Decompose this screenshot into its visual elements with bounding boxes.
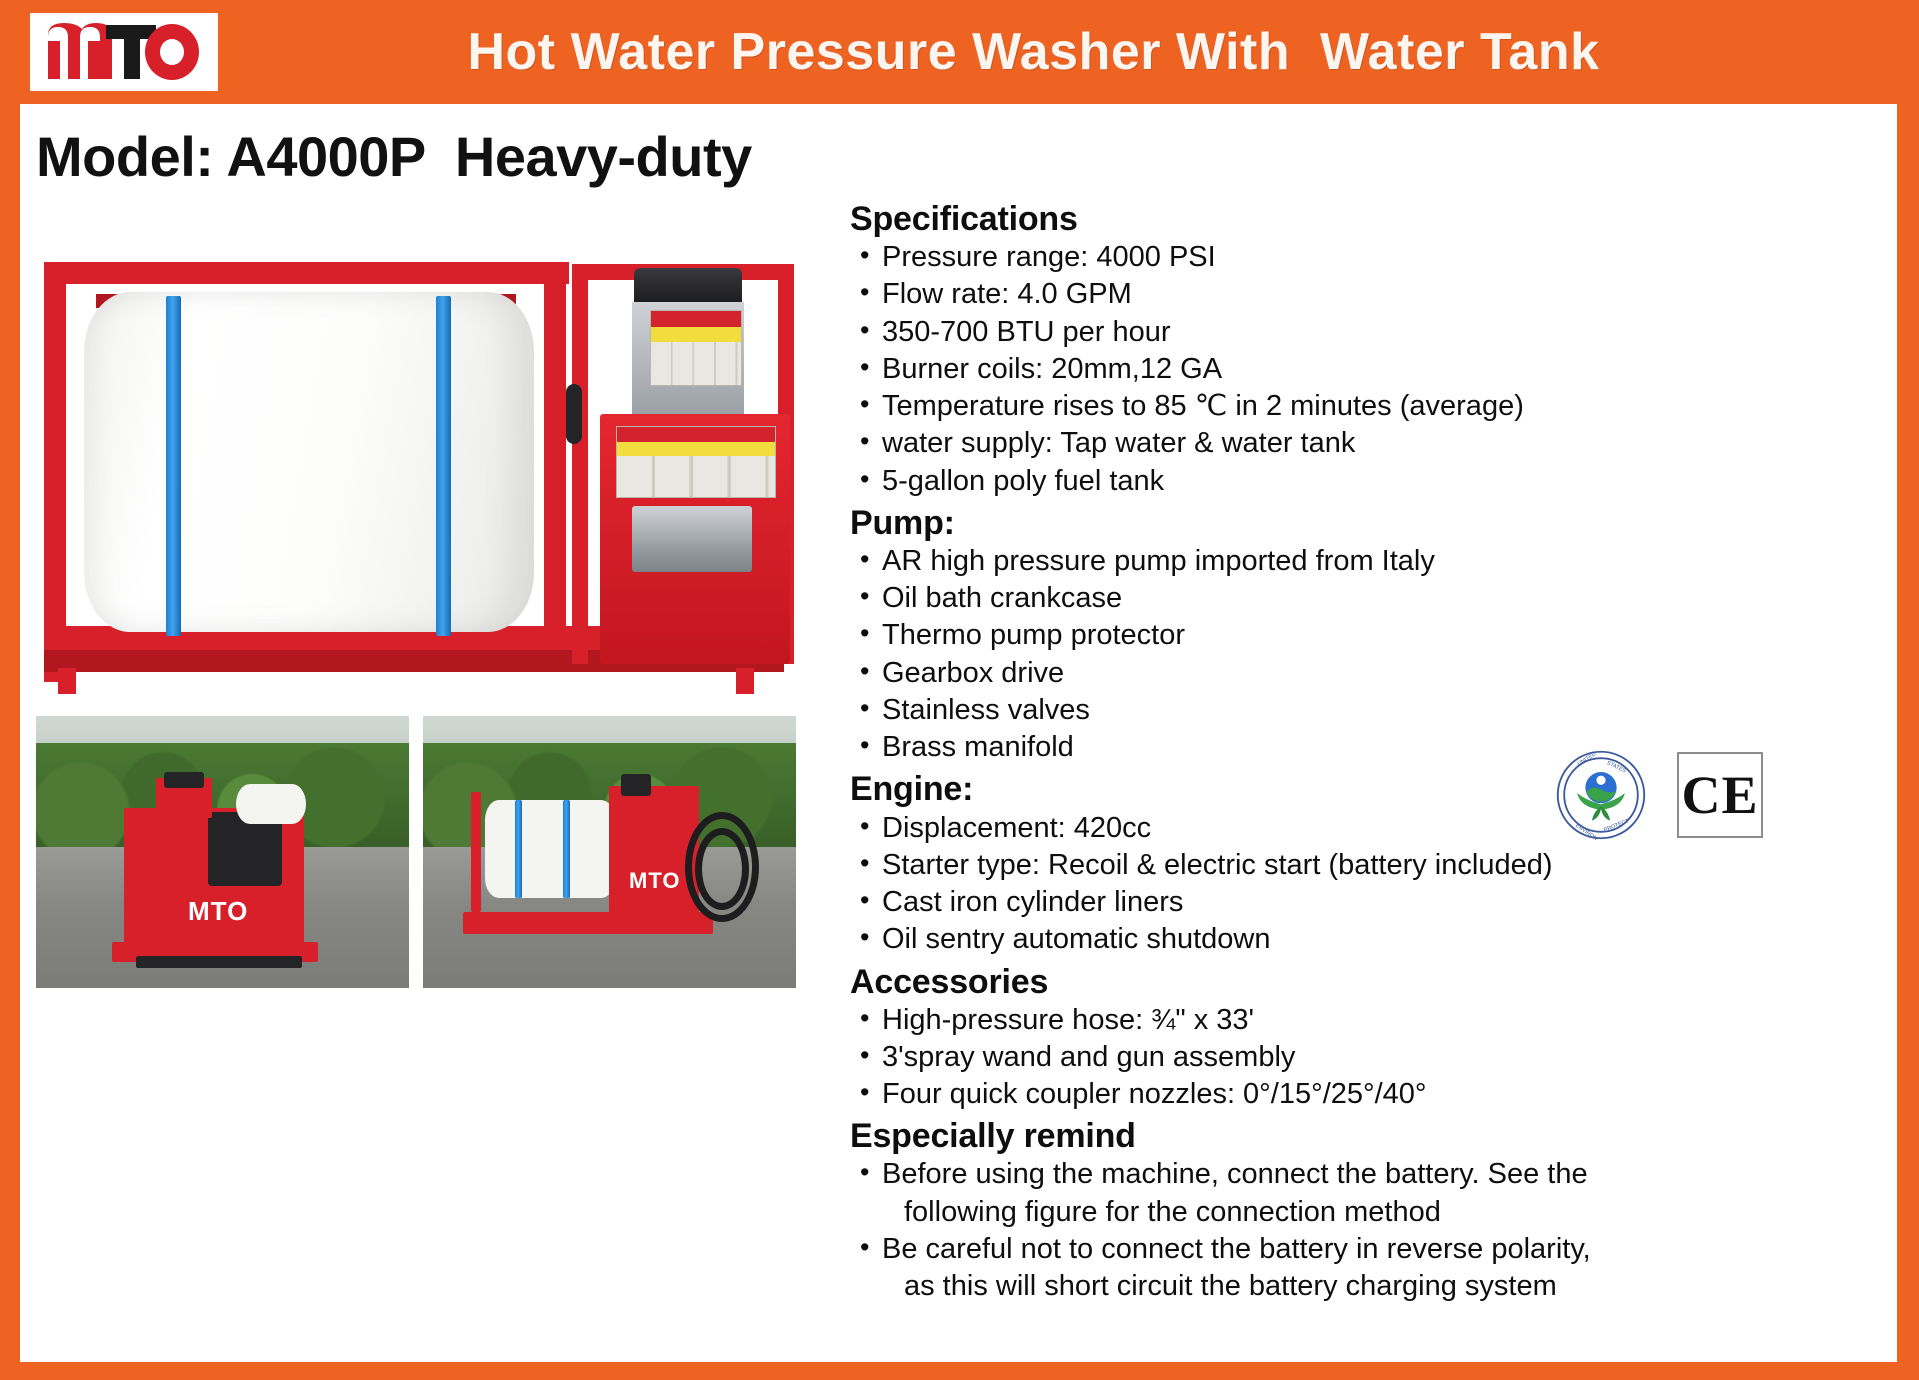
frame-foot-left — [58, 668, 76, 694]
thumbnail-row: MTO MTO — [36, 716, 806, 988]
header-bar: Hot Water Pressure Washer With Water Tan… — [0, 0, 1919, 104]
list-item: Cast iron cylinder liners — [856, 884, 1880, 921]
tank-strap-b — [563, 800, 570, 898]
unit-base — [463, 912, 713, 934]
ce-mark-label: CE — [1681, 768, 1758, 822]
list-item-continuation: as this will short circuit the battery c… — [856, 1268, 1880, 1305]
list-item: Stainless valves — [856, 692, 1880, 729]
certification-badges: UNITED STATES ENVIRON PROTECT CE — [1555, 749, 1763, 841]
tank-edge — [236, 784, 306, 824]
unit-skid — [136, 956, 302, 968]
list-item: Flow rate: 4.0 GPM — [856, 276, 1880, 313]
ce-mark-icon: CE — [1677, 752, 1763, 838]
tank-strap-right — [436, 296, 451, 636]
product-image-column: MTO MTO — [36, 244, 806, 988]
list-item: AR high pressure pump imported from Ital… — [856, 543, 1880, 580]
pump-hose-fitting — [566, 384, 582, 444]
section-heading-specifications: Specifications — [850, 200, 1880, 239]
frame-post-left — [44, 262, 66, 682]
epa-seal-icon: UNITED STATES ENVIRON PROTECT — [1555, 749, 1647, 841]
spec-label-plate — [616, 426, 776, 498]
pump-list: AR high pressure pump imported from Ital… — [856, 543, 1880, 767]
list-item: Oil bath crankcase — [856, 580, 1880, 617]
burner-cap — [634, 268, 742, 306]
list-item: Oil sentry automatic shutdown — [856, 921, 1880, 958]
unit-brand-label: MTO — [188, 896, 248, 927]
content-sheet: Model: A4000P Heavy-duty — [20, 104, 1897, 1362]
stainless-panel — [632, 506, 752, 572]
list-item: Before using the machine, connect the ba… — [856, 1156, 1880, 1193]
list-item: High-pressure hose: ¾" x 33' — [856, 1002, 1880, 1039]
list-item: 350-700 BTU per hour — [856, 314, 1880, 351]
especially-remind-list: Before using the machine, connect the ba… — [856, 1156, 1880, 1305]
list-item: Burner coils: 20mm,12 GA — [856, 351, 1880, 388]
tank-strap-left — [166, 296, 181, 636]
caution-label-upper — [650, 310, 742, 386]
thumbnail-angle-view[interactable]: MTO — [423, 716, 796, 988]
list-item: Gearbox drive — [856, 655, 1880, 692]
list-item: 5-gallon poly fuel tank — [856, 463, 1880, 500]
frame-post — [471, 792, 481, 912]
unit-brand-label: MTO — [629, 868, 680, 894]
frame-foot-right — [736, 668, 754, 694]
hero-product-photo — [36, 244, 796, 694]
unit-frame-left — [572, 264, 588, 664]
mto-logo-icon — [44, 21, 204, 83]
burner-cap — [621, 774, 651, 796]
page-title: Hot Water Pressure Washer With Water Tan… — [218, 22, 1919, 82]
section-heading-especially-remind: Especially remind — [850, 1117, 1880, 1156]
mto-logo — [30, 13, 218, 91]
tank-strap-a — [515, 800, 522, 898]
list-item: Four quick coupler nozzles: 0°/15°/25°/4… — [856, 1076, 1880, 1113]
poly-water-tank — [84, 292, 534, 632]
coiled-hose-inner — [695, 828, 749, 910]
list-item: Be careful not to connect the battery in… — [856, 1231, 1880, 1268]
product-spec-sheet: Hot Water Pressure Washer With Water Tan… — [0, 0, 1919, 1380]
burner-cap — [164, 772, 204, 788]
specifications-list: Pressure range: 4000 PSI Flow rate: 4.0 … — [856, 239, 1880, 500]
section-heading-accessories: Accessories — [850, 963, 1880, 1002]
model-title: Model: A4000P Heavy-duty — [36, 124, 752, 189]
list-item: water supply: Tap water & water tank — [856, 425, 1880, 462]
list-item: Thermo pump protector — [856, 617, 1880, 654]
section-heading-pump: Pump: — [850, 504, 1880, 543]
list-item-continuation: following figure for the connection meth… — [856, 1194, 1880, 1231]
list-item: 3'spray wand and gun assembly — [856, 1039, 1880, 1076]
thumbnail-front-view[interactable]: MTO — [36, 716, 409, 988]
list-item: Starter type: Recoil & electric start (b… — [856, 847, 1880, 884]
list-item: Temperature rises to 85 ℃ in 2 minutes (… — [856, 388, 1880, 425]
frame-post-mid — [544, 262, 566, 662]
frame-top-rail — [44, 262, 569, 284]
poly-tank — [485, 800, 615, 898]
accessories-list: High-pressure hose: ¾" x 33' 3'spray wan… — [856, 1002, 1880, 1114]
list-item: Pressure range: 4000 PSI — [856, 239, 1880, 276]
